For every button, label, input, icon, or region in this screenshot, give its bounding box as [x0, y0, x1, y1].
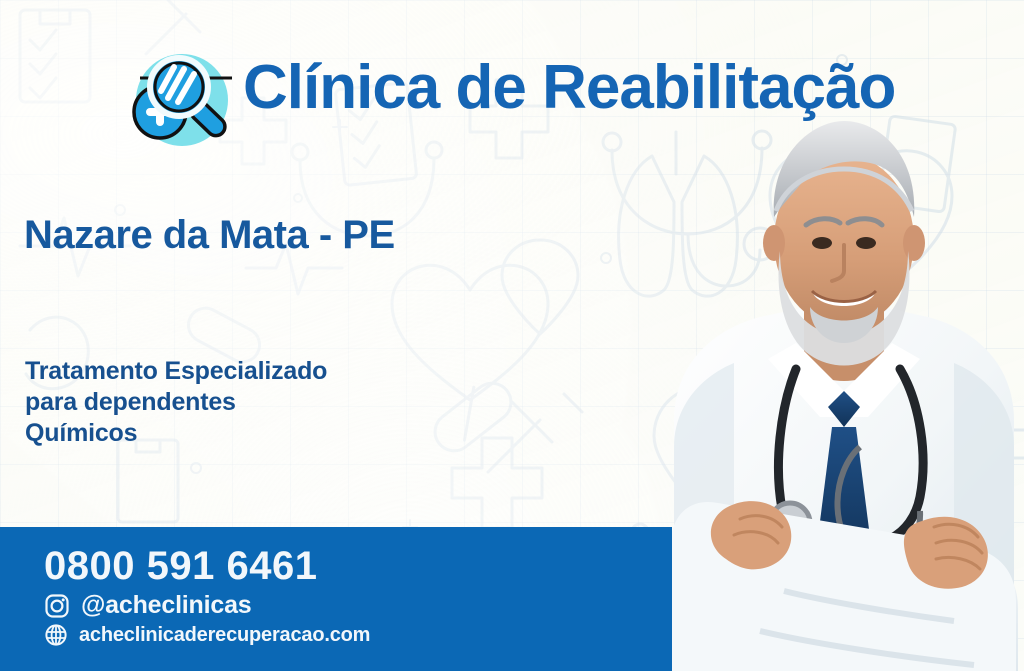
website-url: acheclinicaderecuperacao.com — [79, 624, 370, 647]
doctor-photo — [664, 91, 1024, 671]
magnifier-plus-icon — [124, 50, 236, 154]
clinic-banner: Clínica de Reabilitação Nazare da Mata -… — [0, 0, 1024, 671]
instagram-handle: @acheclinicas — [81, 591, 251, 620]
tagline-block: Tratamento Especializado para dependente… — [25, 356, 327, 449]
globe-icon — [44, 623, 68, 647]
location-heading: Nazare da Mata - PE — [24, 213, 395, 258]
instagram-row[interactable]: @acheclinicas — [44, 591, 251, 620]
tagline-line-1: Tratamento Especializado — [25, 356, 327, 387]
tagline-line-2: para dependentes — [25, 387, 327, 418]
phone-number[interactable]: 0800 591 6461 — [44, 544, 317, 589]
tagline-line-3: Químicos — [25, 418, 327, 449]
website-row[interactable]: acheclinicaderecuperacao.com — [44, 623, 370, 647]
instagram-icon — [44, 593, 70, 619]
